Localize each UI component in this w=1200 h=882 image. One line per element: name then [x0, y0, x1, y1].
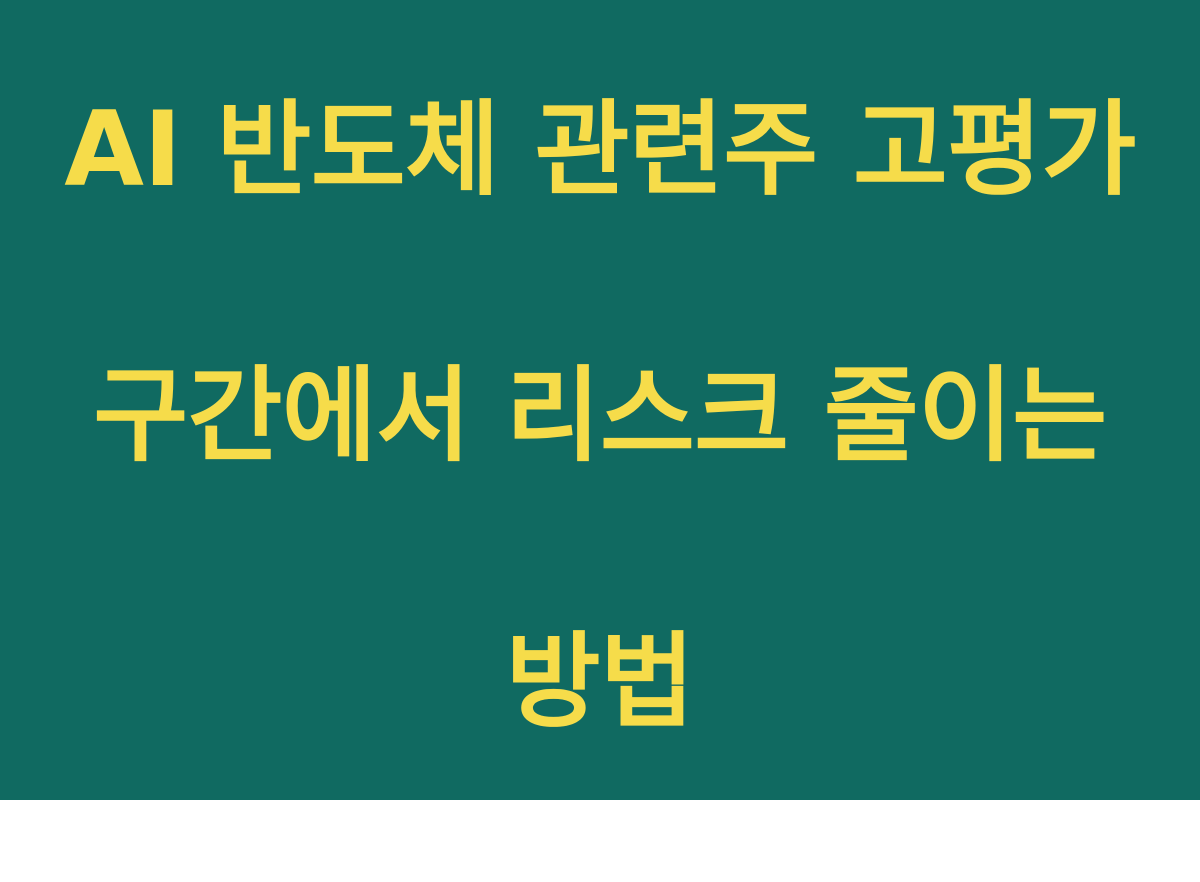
page-title: AI 반도체 관련주 고평가 구간에서 리스크 줄이는 방법 — [45, 0, 1155, 882]
headline-line-3: 방법 — [45, 616, 1155, 749]
headline-line-2: 구간에서 리스크 줄이는 — [45, 350, 1155, 483]
thumbnail-card: AI 반도체 관련주 고평가 구간에서 리스크 줄이는 방법 — [0, 0, 1200, 800]
headline-line-1: AI 반도체 관련주 고평가 — [45, 84, 1155, 217]
